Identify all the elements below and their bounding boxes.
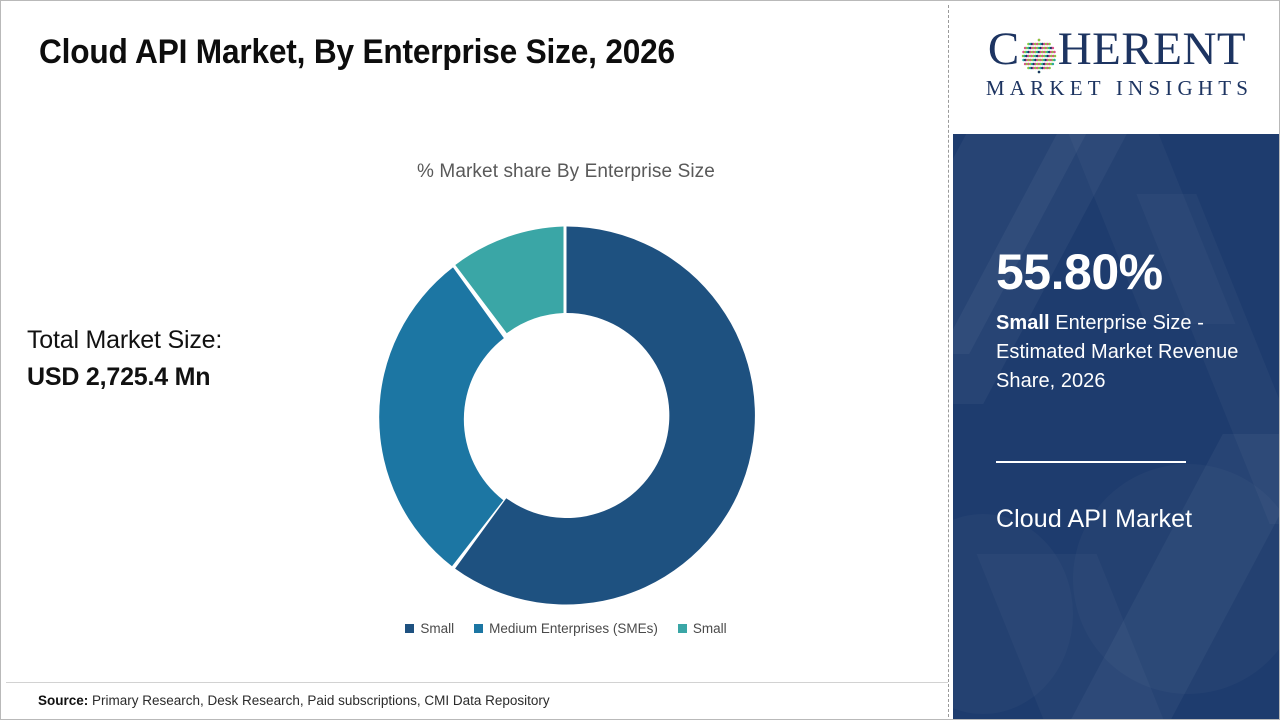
stat-info-panel: 55.80% Small Enterprise Size - Estimated… <box>953 134 1280 720</box>
source-line: Source: Primary Research, Desk Research,… <box>38 693 550 708</box>
dotted-globe-svg <box>1021 38 1057 74</box>
panel-divider-rule <box>996 461 1186 463</box>
legend-label: Small <box>420 621 454 636</box>
source-text: Primary Research, Desk Research, Paid su… <box>88 693 549 708</box>
logo-name-before: C <box>988 23 1020 75</box>
logo-area: C HERENT MARKET INSIGHTS <box>953 1 1280 134</box>
logo-tagline: MARKET INSIGHTS <box>967 76 1267 101</box>
stat-percentage: 55.80% <box>996 247 1163 297</box>
donut-slice-sme[interactable] <box>379 267 504 566</box>
left-content-panel: Cloud API Market, By Enterprise Size, 20… <box>1 1 948 720</box>
panel-divider <box>948 5 949 717</box>
panel-market-name: Cloud API Market <box>996 505 1192 534</box>
donut-chart: % Market share By Enterprise Size 55.8% … <box>331 151 801 671</box>
slice-label-sme: 34.8% <box>424 643 473 663</box>
total-market-size-block: Total Market Size: USD 2,725.4 Mn <box>27 323 327 394</box>
chart-subtitle: % Market share By Enterprise Size <box>331 161 801 183</box>
source-divider <box>6 682 948 683</box>
donut-svg <box>374 223 759 608</box>
legend-label: Medium Enterprises (SMEs) <box>489 621 658 636</box>
slice-label-small-enterprise: 55.8% <box>688 648 737 668</box>
stat-emphasis: Small <box>996 312 1050 334</box>
stat-description: Small Enterprise Size - Estimated Market… <box>996 309 1246 396</box>
legend-swatch-icon <box>405 624 414 633</box>
page-title: Cloud API Market, By Enterprise Size, 20… <box>39 33 857 72</box>
total-market-size-label: Total Market Size: <box>27 323 327 357</box>
legend-swatch-icon <box>678 624 687 633</box>
right-side-panel: C HERENT MARKET INSIGHTS 55.8 <box>953 1 1280 720</box>
total-market-size-value: USD 2,725.4 Mn <box>27 360 327 394</box>
dotted-globe-icon <box>1021 33 1057 69</box>
donut-graphic: 55.8% 34.8% 9.4% <box>374 223 759 608</box>
legend-item-small-teal[interactable]: Small <box>678 621 727 636</box>
slice-label-small-teal: 9.4% <box>529 478 568 498</box>
legend-item-sme[interactable]: Medium Enterprises (SMEs) <box>474 621 658 636</box>
chart-legend: Small Medium Enterprises (SMEs) Small <box>331 621 801 636</box>
legend-label: Small <box>693 621 727 636</box>
logo-name-after: HERENT <box>1058 23 1246 75</box>
source-label: Source: <box>38 693 88 708</box>
legend-item-small-enterprise[interactable]: Small <box>405 621 454 636</box>
coherent-market-insights-logo: C HERENT MARKET INSIGHTS <box>967 23 1267 101</box>
legend-swatch-icon <box>474 624 483 633</box>
logo-wordmark: C HERENT <box>967 23 1267 75</box>
infographic-canvas: Cloud API Market, By Enterprise Size, 20… <box>0 0 1280 720</box>
